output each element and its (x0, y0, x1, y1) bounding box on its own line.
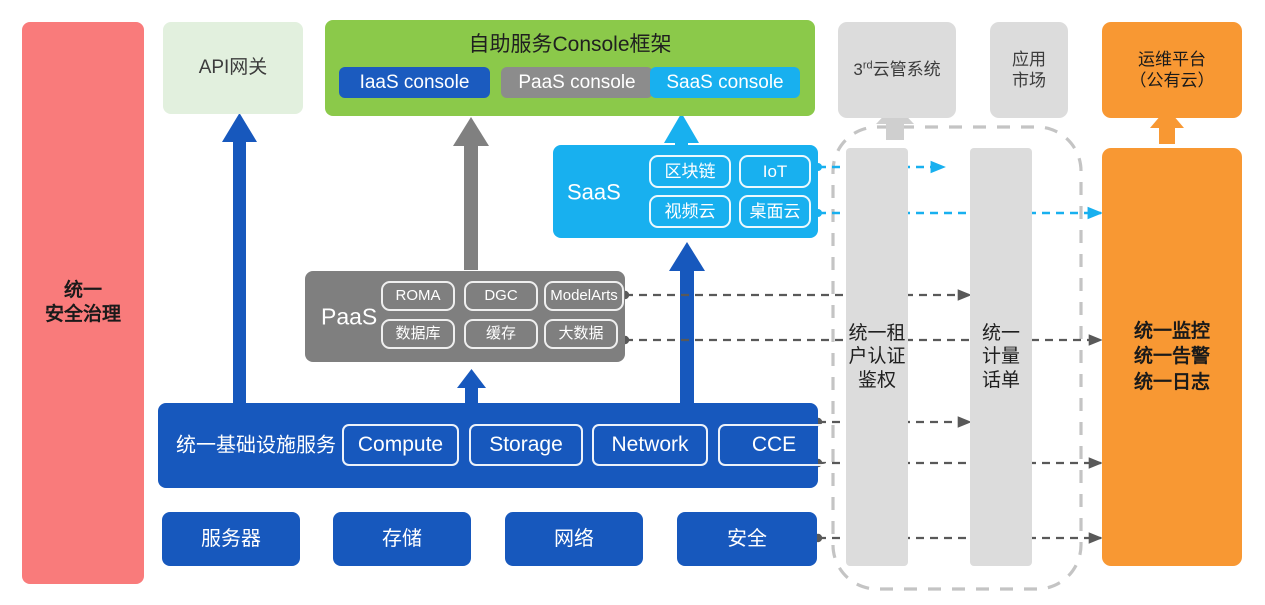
hardware-item-storage[interactable]: 存储 (333, 512, 471, 566)
api-gateway-box[interactable]: API网关 (163, 22, 303, 114)
paas-item-database-label: 数据库 (395, 325, 440, 344)
security-governance-panel[interactable]: 统一 安全治理 (22, 22, 144, 584)
saas-item-blockchain-label: 区块链 (665, 161, 716, 182)
paas-block-label: PaaS (321, 302, 377, 331)
console-framework-title: 自助服务Console框架 (325, 32, 815, 58)
hardware-item-storage-label: 存储 (382, 527, 422, 552)
saas-item-iot-label: IoT (763, 161, 788, 182)
paas-item-bigdata[interactable]: 大数据 (544, 319, 618, 349)
saas-item-video-cloud-label: 视频云 (665, 201, 716, 222)
paas-item-bigdata-label: 大数据 (558, 325, 603, 344)
saas-item-desktop-cloud[interactable]: 桌面云 (739, 195, 811, 228)
hardware-item-security[interactable]: 安全 (677, 512, 817, 566)
api-gateway-label: API网关 (199, 56, 268, 80)
auth-column[interactable]: 统一租 户认证 鉴权 (846, 148, 908, 566)
infra-item-compute-label: Compute (358, 432, 443, 458)
hardware-item-network-label: 网络 (554, 527, 594, 552)
hardware-item-network[interactable]: 网络 (505, 512, 643, 566)
infra-item-compute[interactable]: Compute (342, 424, 459, 466)
chip-saas-console[interactable]: SaaS console (650, 67, 800, 98)
hardware-item-server-label: 服务器 (201, 527, 261, 552)
paas-item-dgc[interactable]: DGC (464, 281, 538, 311)
infra-item-cce[interactable]: CCE (718, 424, 830, 466)
paas-item-cache[interactable]: 缓存 (464, 319, 538, 349)
console-framework-box[interactable]: 自助服务Console框架 IaaS console PaaS console … (325, 20, 815, 116)
paas-item-modelarts[interactable]: ModelArts (544, 281, 624, 311)
hardware-item-security-label: 安全 (727, 527, 767, 552)
infra-item-network[interactable]: Network (592, 424, 708, 466)
paas-item-database[interactable]: 数据库 (381, 319, 455, 349)
app-market-box[interactable]: 应用 市场 (990, 22, 1068, 118)
saas-block[interactable]: SaaS 区块链 IoT 视频云 桌面云 (553, 145, 818, 238)
paas-block[interactable]: PaaS ROMA DGC ModelArts 数据库 缓存 大数据 (305, 271, 625, 362)
infrastructure-bar-label: 统一基础设施服务 (176, 433, 336, 458)
chip-iaas-console[interactable]: IaaS console (339, 67, 490, 98)
security-governance-label: 统一 安全治理 (45, 279, 121, 327)
infrastructure-bar[interactable]: 统一基础设施服务 Compute Storage Network CCE (158, 403, 818, 488)
app-market-label: 应用 市场 (1012, 49, 1046, 92)
third-party-cloud-box[interactable]: 3rd云管系统 (838, 22, 956, 118)
third-party-superscript: rd (863, 60, 873, 72)
paas-item-dgc-label: DGC (484, 287, 517, 306)
billing-column-label: 统一 计量 话单 (982, 322, 1020, 392)
paas-item-roma[interactable]: ROMA (381, 281, 455, 311)
billing-column[interactable]: 统一 计量 话单 (970, 148, 1032, 566)
saas-item-blockchain[interactable]: 区块链 (649, 155, 731, 188)
paas-item-modelarts-label: ModelArts (550, 287, 618, 306)
paas-item-cache-label: 缓存 (486, 325, 516, 344)
chip-paas-console-label: PaaS console (518, 71, 635, 95)
arrow-infra-to-saas (669, 242, 705, 408)
infra-item-cce-label: CCE (752, 432, 796, 458)
third-party-cloud-label: 3rd云管系统 (853, 59, 940, 80)
auth-column-label: 统一租 户认证 鉴权 (848, 322, 905, 392)
infra-item-storage-label: Storage (489, 432, 563, 458)
chip-saas-console-label: SaaS console (666, 71, 783, 95)
chip-iaas-console-label: IaaS console (360, 71, 470, 95)
monitoring-panel[interactable]: 统一监控 统一告警 统一日志 (1102, 148, 1242, 566)
arrow-paas-to-console (453, 117, 489, 270)
arrow-infra-to-apigw (222, 113, 257, 407)
paas-item-roma-label: ROMA (396, 287, 441, 306)
chip-paas-console[interactable]: PaaS console (501, 67, 653, 98)
architecture-diagram: 统一 安全治理 API网关 自助服务Console框架 IaaS console… (0, 0, 1265, 605)
infra-item-network-label: Network (611, 432, 688, 458)
infra-item-storage[interactable]: Storage (469, 424, 583, 466)
hardware-item-server[interactable]: 服务器 (162, 512, 300, 566)
monitoring-panel-label: 统一监控 统一告警 统一日志 (1134, 319, 1210, 396)
saas-item-video-cloud[interactable]: 视频云 (649, 195, 731, 228)
ops-platform-label: 运维平台 （公有云） (1130, 49, 1215, 92)
saas-item-iot[interactable]: IoT (739, 155, 811, 188)
ops-platform-box[interactable]: 运维平台 （公有云） (1102, 22, 1242, 118)
saas-item-desktop-cloud-label: 桌面云 (750, 201, 801, 222)
saas-block-label: SaaS (567, 178, 621, 206)
